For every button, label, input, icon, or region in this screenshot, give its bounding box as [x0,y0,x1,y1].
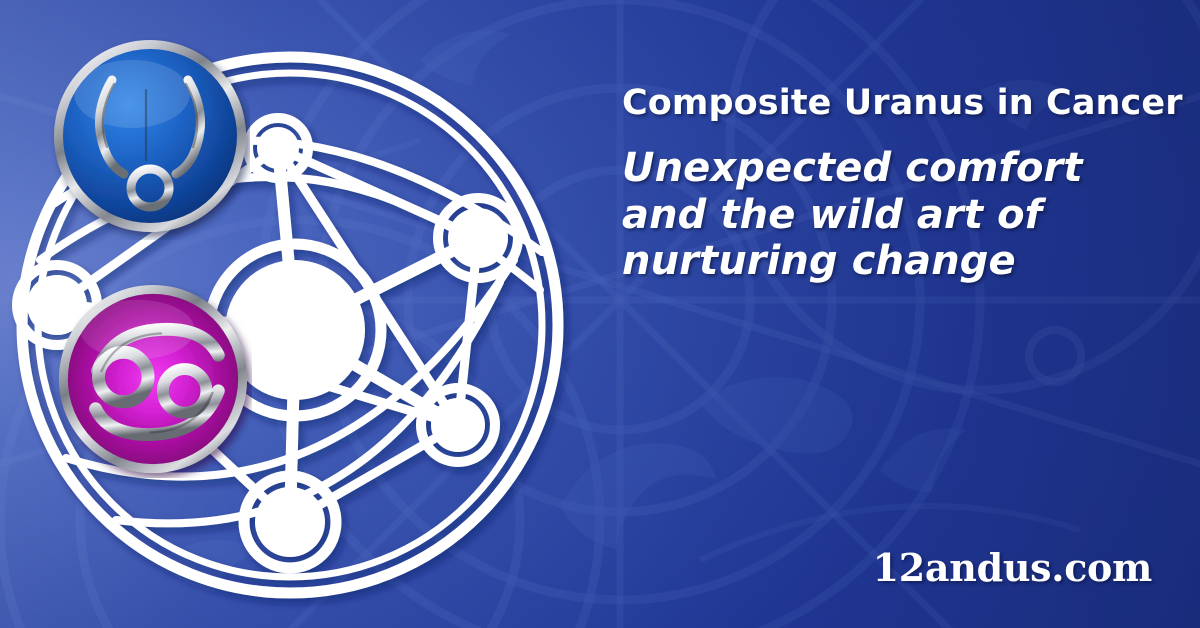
page-subtitle: Unexpected comfort and the wild art of n… [622,145,1167,284]
site-branding[interactable]: 12andus.com [873,545,1152,590]
node-bottom [244,476,336,568]
node-lower-right [421,388,495,462]
page-title: Composite Uranus in Cancer [622,84,1182,123]
node-upper-right [438,198,518,278]
text-block: Composite Uranus in Cancer Unexpected co… [622,84,1182,284]
node-top [248,118,308,178]
share-card: Composite Uranus in Cancer Unexpected co… [0,0,1200,628]
cancer-badge [54,280,252,478]
uranus-badge [50,36,250,240]
